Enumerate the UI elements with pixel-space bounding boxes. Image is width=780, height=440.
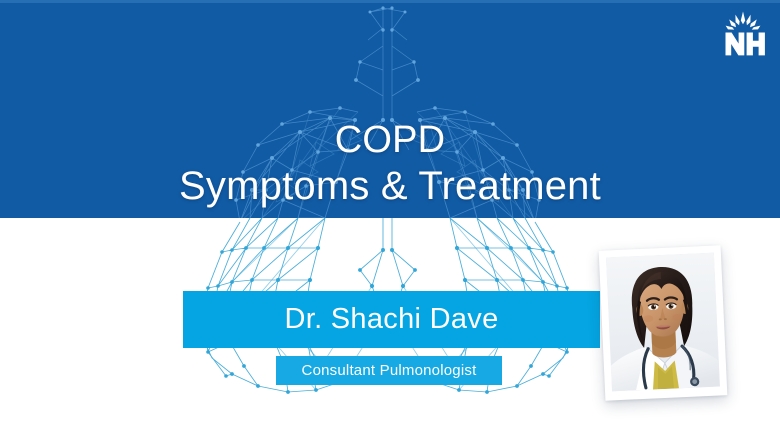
doctor-portrait-image [606, 253, 720, 392]
title-line-1: COPD [0, 118, 780, 162]
speaker-name-banner: Dr. Shachi Dave [183, 291, 600, 348]
slide-title: COPD Symptoms & Treatment [0, 118, 780, 210]
doctor-photo-frame [599, 245, 728, 400]
slide-canvas: COPD Symptoms & Treatment Dr. Shachi Dav… [0, 0, 780, 440]
title-line-2: Symptoms & Treatment [0, 162, 780, 210]
narayana-health-logo [720, 10, 766, 58]
speaker-role-banner: Consultant Pulmonologist [276, 356, 502, 385]
speaker-name: Dr. Shachi Dave [284, 303, 498, 336]
speaker-role: Consultant Pulmonologist [302, 362, 477, 379]
doctor-photo [606, 253, 720, 392]
